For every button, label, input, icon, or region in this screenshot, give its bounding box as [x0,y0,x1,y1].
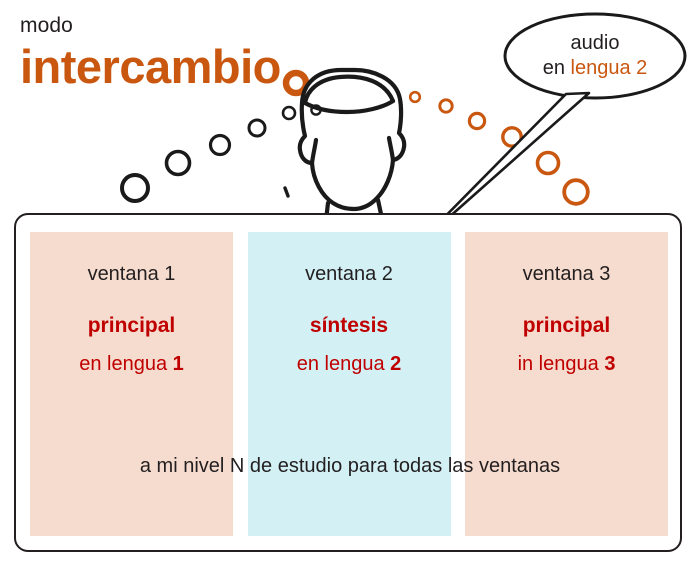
window-2-language: en lengua 2 [248,352,451,376]
speech-bubble-line-1: audio [571,31,620,56]
page-kicker: modo [20,14,350,38]
window-3-language: in lengua 3 [465,352,668,376]
window-3-language-prefix: in lengua [518,353,605,375]
window-column-3[interactable]: ventana 3 principal in lengua 3 [465,232,668,536]
window-1-language-number: 1 [173,353,184,375]
window-3-role: principal [465,313,668,338]
speech-bubble-text: audio en lengua 2 [504,13,686,99]
speech-bubble: audio en lengua 2 [504,13,686,99]
window-column-1[interactable]: ventana 1 principal en lengua 1 [30,232,233,536]
window-3-name: ventana 3 [465,262,668,286]
window-2-language-number: 2 [390,353,401,375]
speech-bubble-line-2-highlight: lengua 2 [571,57,648,79]
window-column-2[interactable]: ventana 2 síntesis en lengua 2 [248,232,451,536]
window-1-language: en lengua 1 [30,352,233,376]
windows-columns-row: ventana 1 principal en lengua 1 ventana … [30,232,668,536]
window-2-name: ventana 2 [248,262,451,286]
window-1-role: principal [30,313,233,338]
window-1-language-prefix: en lengua [79,353,172,375]
black-circles-trail [122,105,321,201]
window-1-name: ventana 1 [30,262,233,286]
page-title: intercambio [20,40,350,94]
speech-bubble-line-2: en lengua 2 [543,56,648,81]
panel-footnote: a mi nivel N de estudio para todas las v… [16,454,684,478]
window-2-language-prefix: en lengua [297,353,390,375]
windows-panel: ventana 1 principal en lengua 1 ventana … [14,213,682,552]
heading-block: modo intercambio [20,14,350,94]
window-2-role: síntesis [248,313,451,338]
speech-bubble-line-2-prefix: en [543,57,571,79]
window-3-language-number: 3 [604,353,615,375]
